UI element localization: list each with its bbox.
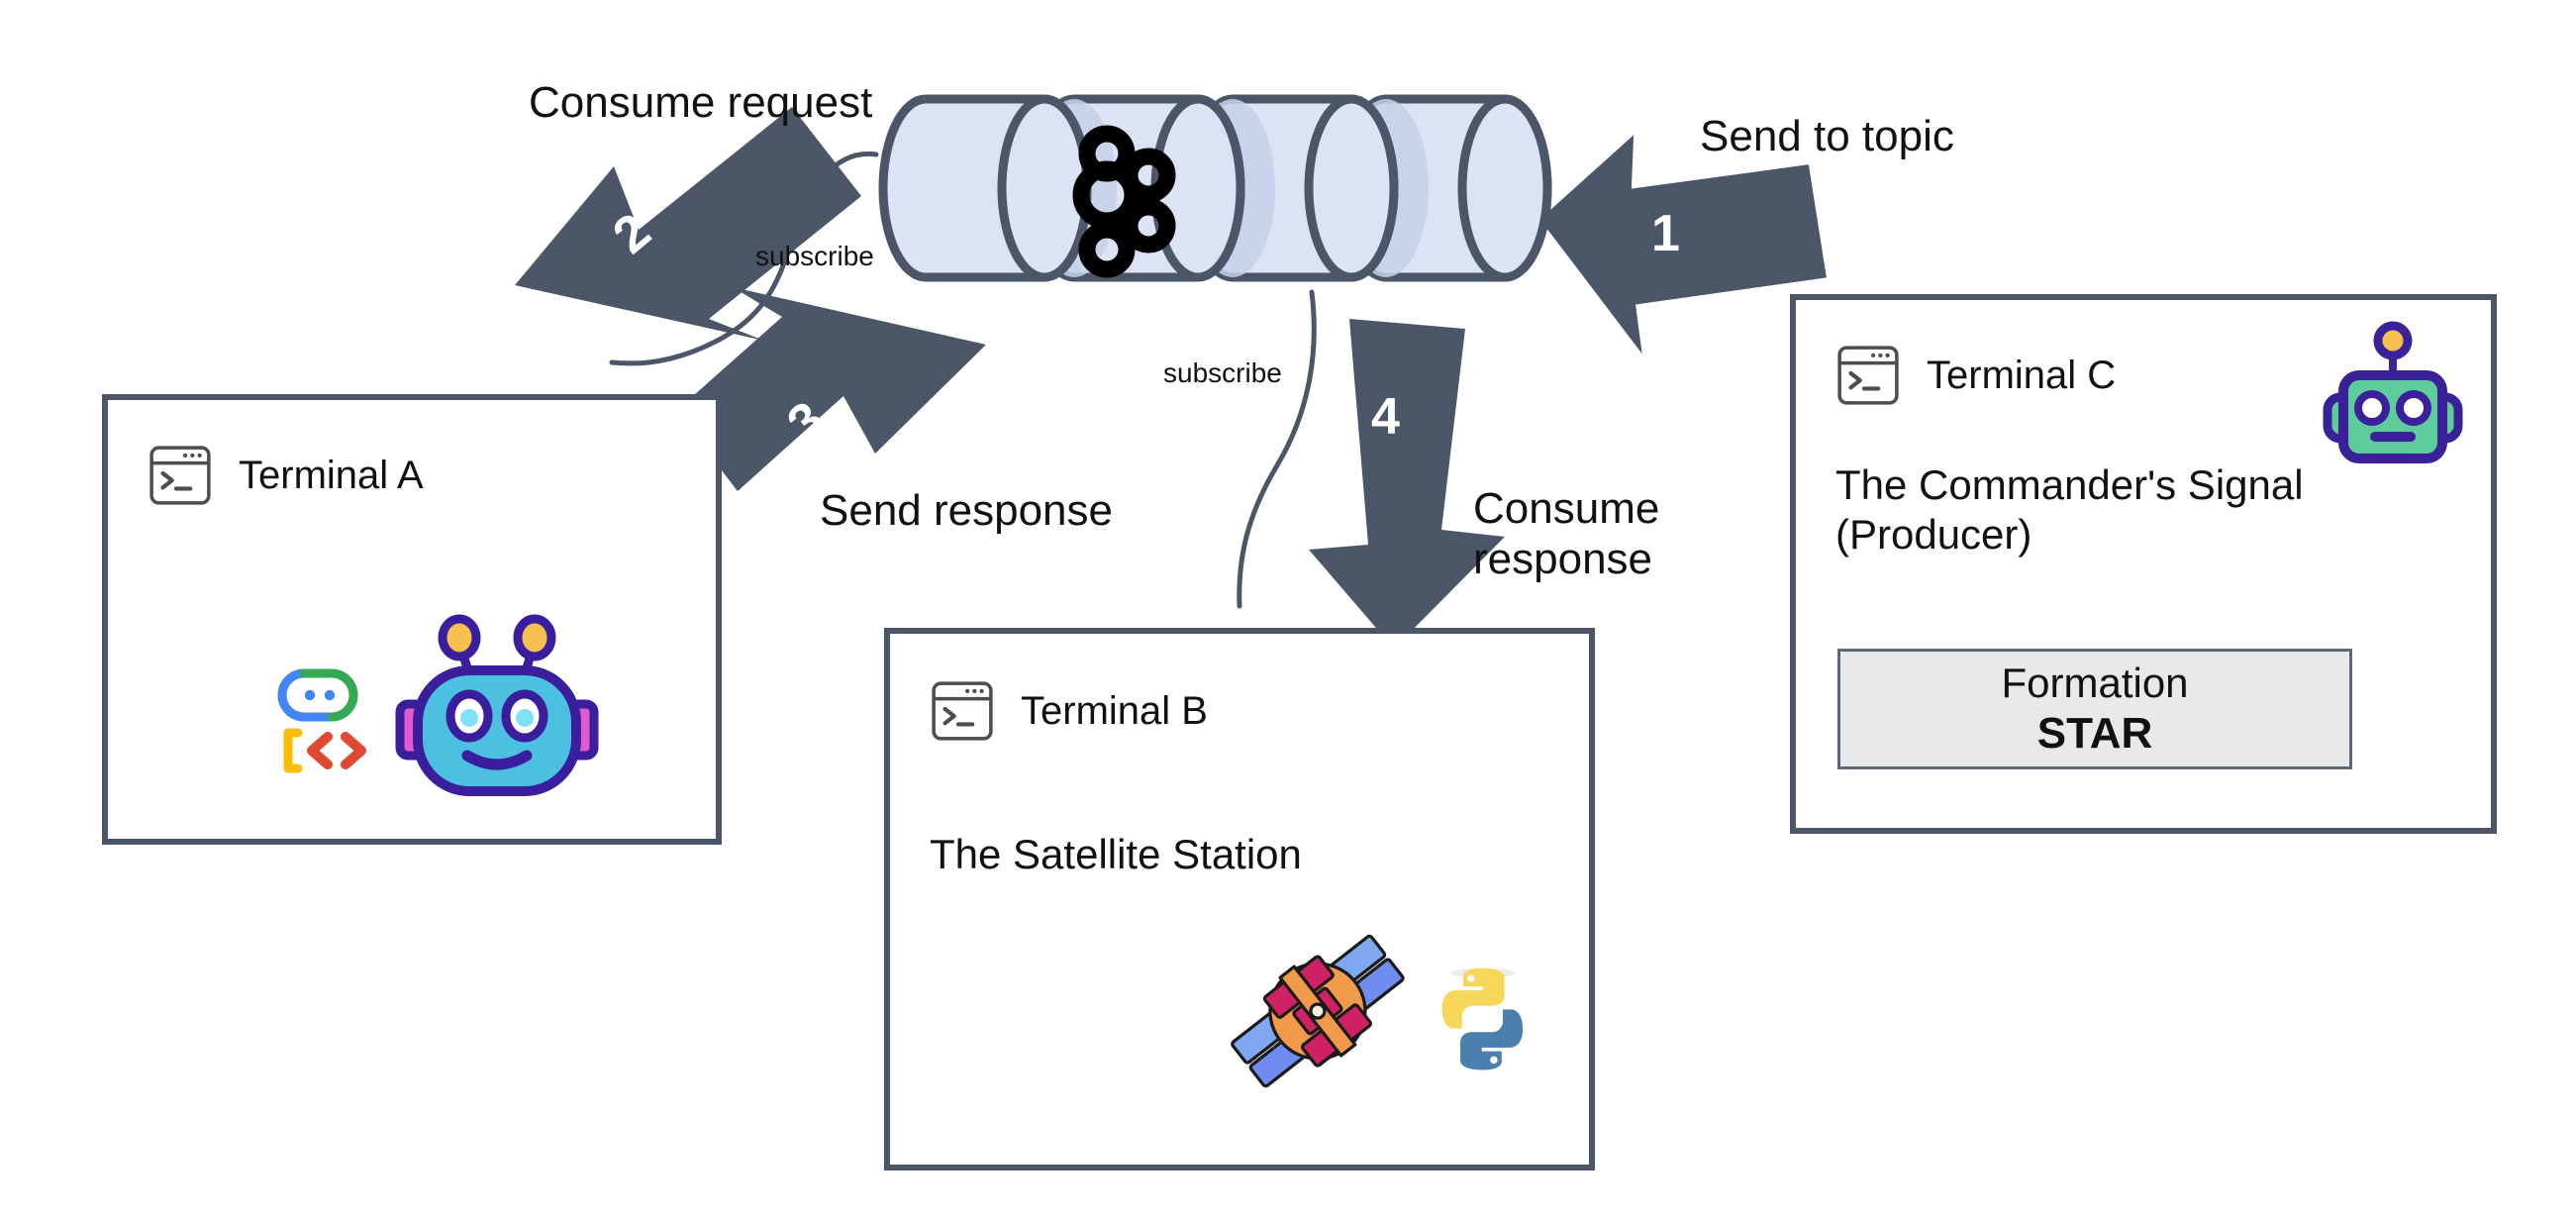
cylinder-segment-2 — [1032, 99, 1240, 277]
terminal-a-title: Terminal A — [239, 456, 424, 495]
terminal-c-title: Terminal C — [1927, 356, 2116, 395]
arrow-1-number: 1 — [1651, 208, 1680, 259]
formation-status-box: Formation STAR — [1837, 649, 2352, 769]
terminal-c-subtitle: The Commander's Signal (Producer) — [1835, 460, 2304, 559]
panel-terminal-b[interactable]: Terminal B The Satellite Station — [884, 628, 1595, 1170]
kafka-logo — [1081, 134, 1167, 269]
gemini-code-icon — [276, 665, 379, 782]
arrow-3-number: 3 — [779, 393, 835, 451]
cylinder-segment-3 — [1190, 99, 1394, 277]
subscribe-label-a: subscribe — [755, 243, 874, 270]
terminal-c-header: Terminal C — [1835, 343, 2116, 408]
terminal-a-header: Terminal A — [148, 443, 424, 508]
terminal-b-header: Terminal B — [930, 678, 1208, 744]
formation-value: STAR — [2037, 710, 2153, 758]
flow-label-send-to-topic: Send to topic — [1700, 111, 1954, 161]
terminal-b-title: Terminal B — [1021, 691, 1208, 731]
flow-label-consume-request: Consume request — [529, 77, 872, 128]
kafka-topic-cylinders — [883, 99, 1547, 277]
formation-label: Formation — [2001, 661, 2188, 706]
terminal-b-subtitle: The Satellite Station — [930, 830, 1302, 879]
subscribe-curve-b — [1239, 292, 1315, 606]
panel-terminal-a[interactable]: Terminal A — [102, 394, 722, 845]
terminal-icon — [930, 678, 995, 744]
panel-terminal-c[interactable]: Terminal C The Commander's Signal (Produ… — [1790, 294, 2497, 834]
diagram-canvas: 1 2 3 4 Send to topic Consume request Se… — [0, 0, 2576, 1220]
arrow-4-number: 4 — [1371, 391, 1400, 443]
cylinder-segment-4 — [1343, 99, 1547, 277]
flow-label-send-response: Send response — [820, 485, 1113, 536]
flow-label-consume-response: Consume response — [1473, 483, 1659, 584]
robot-face-green-icon — [2314, 320, 2472, 478]
arrow-2-consume-request — [515, 107, 861, 341]
arrow-2-number: 2 — [605, 205, 660, 262]
python-logo-icon — [1415, 951, 1551, 1087]
robot-face-blue-icon — [390, 613, 604, 801]
cylinder-segment-1 — [883, 99, 1087, 277]
subscribe-label-b: subscribe — [1163, 359, 1282, 387]
satellite-icon — [1227, 921, 1415, 1109]
terminal-icon — [1835, 343, 1901, 408]
arrow-3-send-response — [676, 287, 986, 491]
terminal-icon — [148, 443, 213, 508]
